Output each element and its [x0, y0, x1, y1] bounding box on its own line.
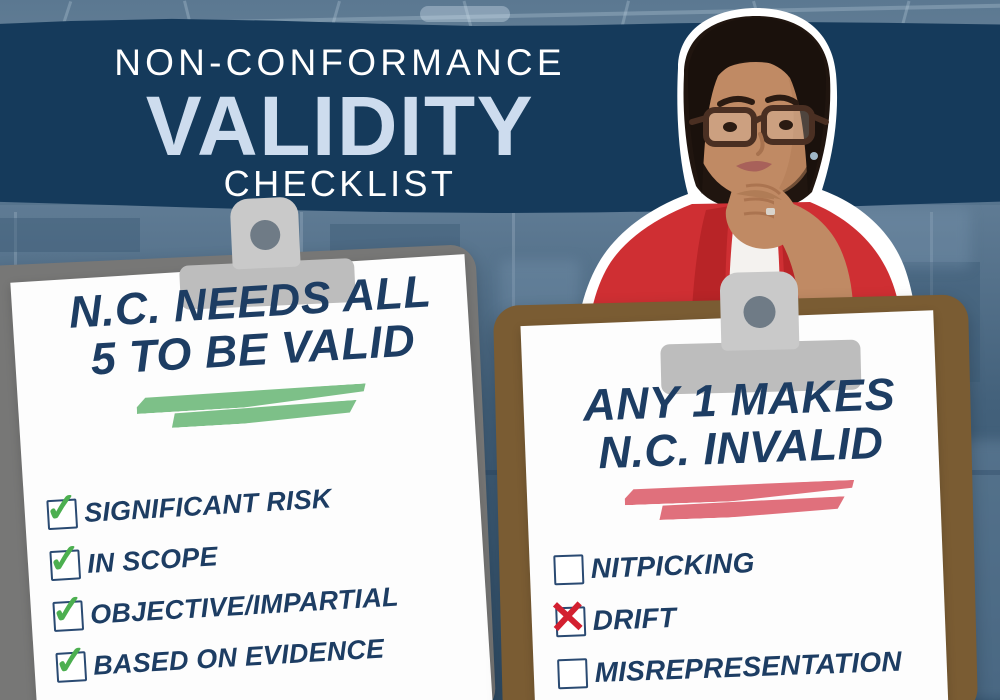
list-item[interactable]: ✓ OBJECTIVE/IMPARTIAL [52, 576, 493, 632]
checkbox[interactable]: ✓ [52, 600, 84, 632]
checkbox[interactable]: ✕ [555, 606, 586, 637]
x-icon: ✕ [548, 593, 594, 639]
skylight-panel [420, 6, 510, 22]
list-item[interactable]: MISREPRESENTATION [557, 645, 958, 690]
list-item-label: OBJECTIVE/IMPARTIAL [89, 583, 399, 628]
list-item-label: IN SCOPE [86, 543, 218, 578]
list-item-label: NITPICKING [590, 549, 755, 583]
list-item[interactable]: ✓ IN SCOPE [49, 525, 490, 581]
right-heading-block: ANY 1 MAKES N.C. INVALID [538, 371, 941, 478]
background-machine [0, 218, 140, 252]
left-checklist: ✓ SIGNIFICANT RISK ✓ IN SCOPE ✓ OBJECTIV… [46, 474, 497, 700]
list-item-label: MISREPRESENTATION [594, 648, 902, 687]
right-underline-swoosh [624, 474, 856, 534]
infographic-canvas: NON-CONFORMANCE VALIDITY CHECKLIST [0, 0, 1000, 700]
check-icon: ✓ [53, 640, 89, 678]
list-item-label: BASED ON EVIDENCE [92, 635, 385, 679]
check-icon: ✓ [47, 538, 83, 576]
list-item-label: DRIFT [592, 604, 676, 635]
checkbox[interactable] [553, 554, 584, 585]
check-icon: ✓ [50, 589, 86, 627]
checkbox[interactable]: ✓ [55, 651, 87, 683]
list-item[interactable]: ✕ DRIFT [555, 593, 956, 638]
checkbox[interactable]: ✓ [49, 549, 81, 581]
right-checklist: NITPICKING ✕ DRIFT MISREPRESENTATION [553, 541, 958, 700]
list-item[interactable]: ✓ BASED ON EVIDENCE [55, 627, 496, 683]
check-icon: ✓ [44, 487, 80, 525]
checkbox[interactable]: ✓ [46, 498, 78, 530]
checkbox[interactable] [557, 658, 588, 689]
